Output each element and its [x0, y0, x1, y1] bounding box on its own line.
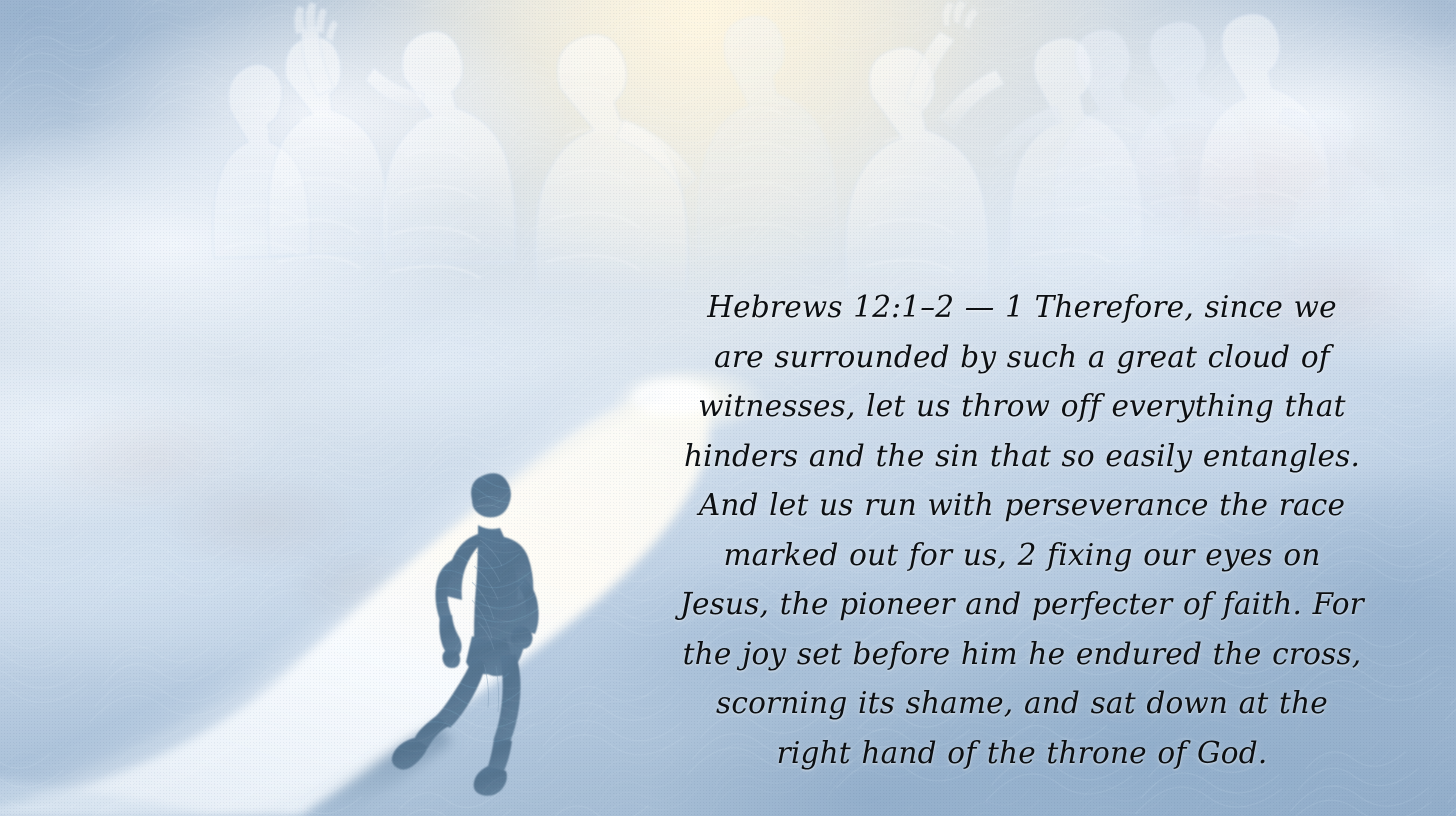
verse-line: right hand of the throne of God.: [777, 736, 1268, 770]
verse-line: marked out for us, 2 fixing our eyes on: [723, 538, 1320, 572]
verse-line: Jesus, the pioneer and perfecter of fait…: [680, 587, 1364, 621]
verse-line: hinders and the sin that so easily entan…: [684, 439, 1360, 473]
verse-line: scorning its shame, and sat down at the: [716, 686, 1328, 720]
verse-line: are surrounded by such a great cloud of: [714, 340, 1330, 374]
scripture-illustration-canvas: Hebrews 12:1–2 — 1 Therefore, since wear…: [0, 0, 1456, 816]
verse-line: witnesses, let us throw off everything t…: [698, 389, 1345, 423]
scripture-verse-block: Hebrews 12:1–2 — 1 Therefore, since wear…: [652, 283, 1392, 778]
verse-line: Hebrews 12:1–2 — 1 Therefore, since we: [707, 290, 1336, 324]
verse-line: the joy set before him he endured the cr…: [683, 637, 1362, 671]
scripture-verse-text: Hebrews 12:1–2 — 1 Therefore, since wear…: [652, 283, 1392, 778]
verse-line: And let us run with perseverance the rac…: [699, 488, 1345, 522]
